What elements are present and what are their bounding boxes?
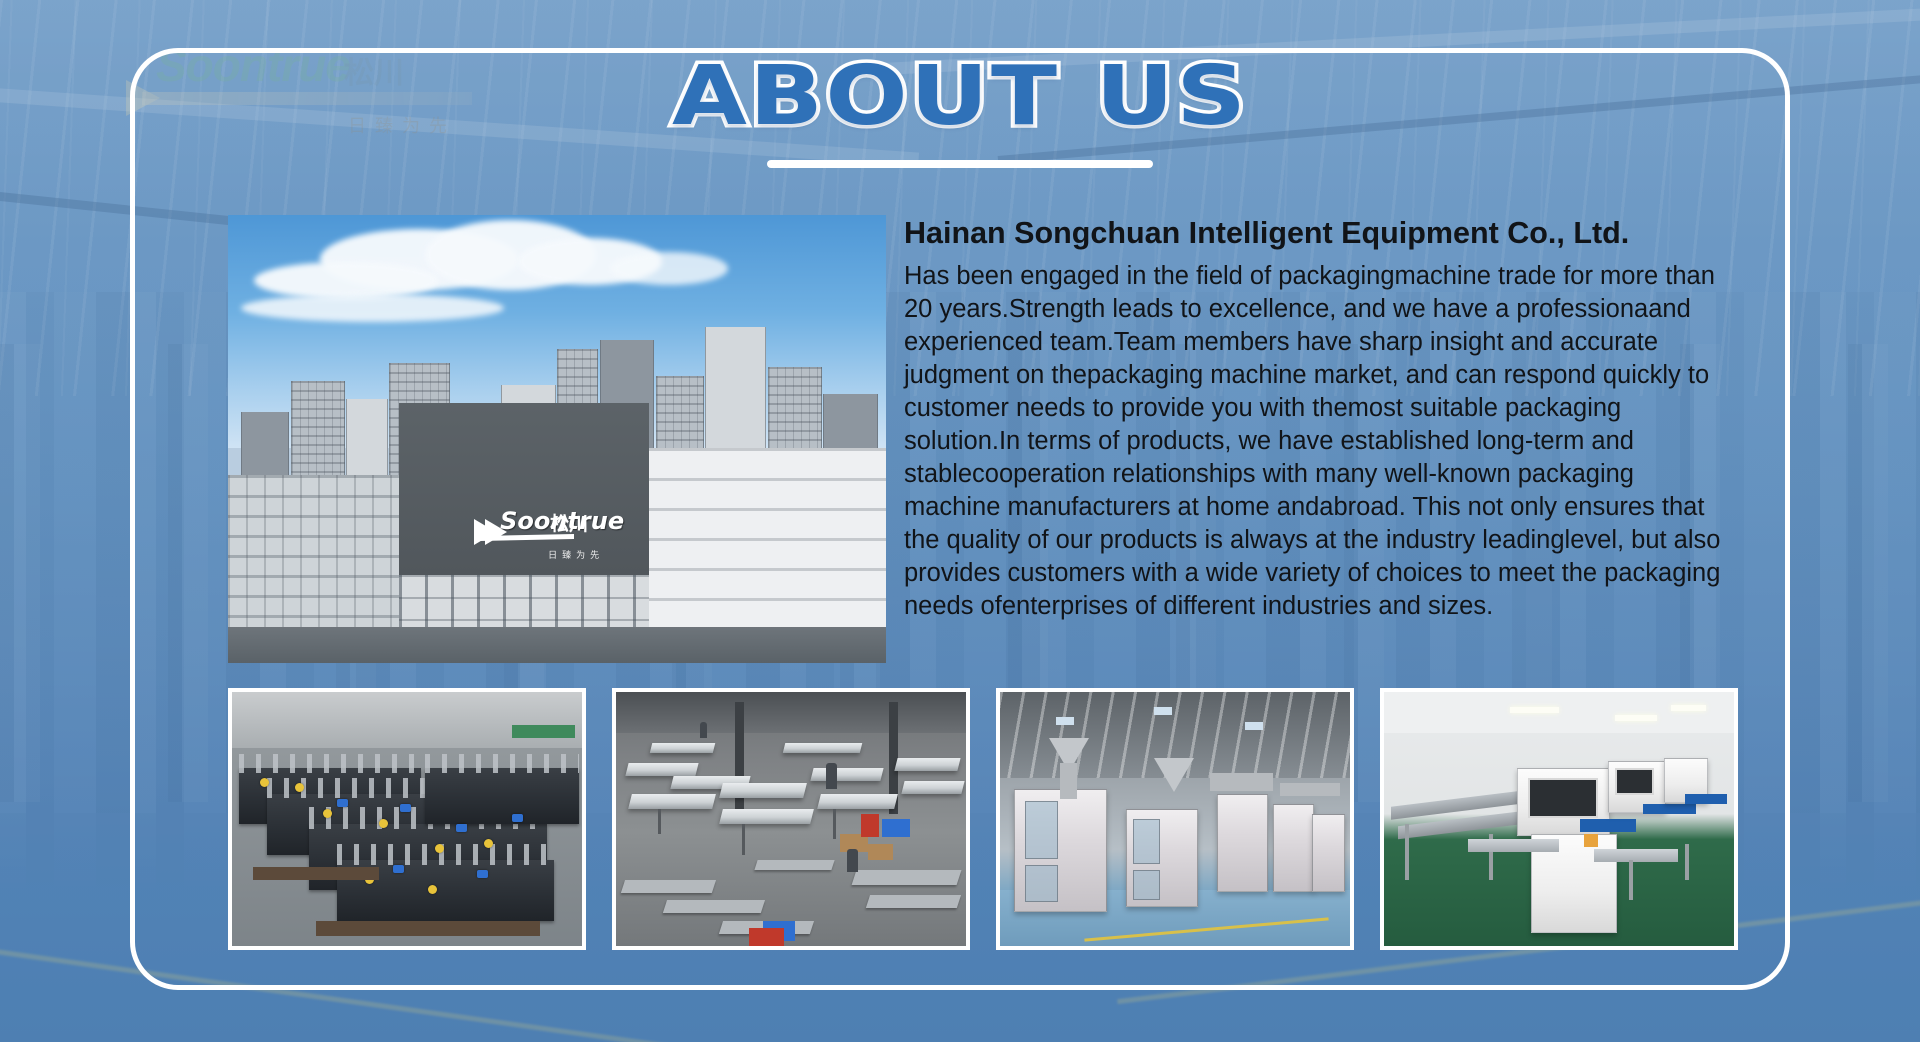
workbench	[894, 758, 960, 771]
about-us-page: Soontrue 松川 日臻为先 ABOUT US	[0, 0, 1920, 1042]
safety-marker	[1584, 834, 1598, 847]
workbench	[901, 781, 964, 794]
machine-rail	[754, 860, 834, 870]
cardboard-box	[868, 844, 893, 859]
conveyor-leg	[1685, 844, 1689, 880]
machine-frame-row	[425, 768, 579, 824]
machine-rail	[621, 880, 716, 893]
signage-bar	[480, 534, 574, 541]
signage-brand-cn: 松川	[550, 509, 588, 536]
workbench	[628, 794, 716, 809]
machine-fitting	[428, 885, 437, 894]
machine-fitting	[400, 804, 411, 812]
ceiling-light	[1615, 715, 1657, 721]
gallery-thumb-flow-wrappers[interactable]	[1380, 688, 1738, 950]
multihead-weigher	[1210, 773, 1273, 791]
bench-leg	[833, 809, 836, 839]
machine-fitting	[477, 870, 488, 878]
cloud-shape	[610, 252, 728, 285]
machine-fitting	[393, 865, 404, 873]
machine-rail	[852, 870, 962, 885]
machine-rail	[866, 895, 961, 908]
blue-conveyor-belt	[1685, 794, 1727, 804]
page-title-block: ABOUT US	[130, 56, 1790, 138]
machine-column	[1060, 763, 1078, 799]
ceiling-light	[1510, 707, 1559, 713]
machine-fitting	[337, 799, 348, 807]
workbench	[810, 768, 883, 781]
skylight	[1056, 717, 1074, 725]
cloud-shape	[254, 262, 438, 299]
skylight	[1154, 707, 1172, 715]
workbench	[783, 743, 863, 753]
workbench	[625, 763, 698, 776]
worker	[826, 763, 837, 788]
gallery-thumb-assembly-workshop[interactable]	[612, 688, 970, 950]
parts-crate	[882, 819, 910, 837]
conveyor-leg	[1405, 824, 1409, 880]
cleanroom-ceiling	[1384, 692, 1734, 733]
parts-crate	[861, 814, 879, 837]
hero-building-photo: Soontrue 松川 日臻为先	[228, 215, 886, 663]
control-panel	[1528, 778, 1599, 818]
building-signage: Soontrue 松川 日臻为先	[474, 507, 574, 551]
about-text-column: Hainan Songchuan Intelligent Equipment C…	[904, 215, 1728, 623]
workbench	[719, 783, 807, 798]
workbench	[719, 809, 814, 824]
company-name: Hainan Songchuan Intelligent Equipment C…	[904, 215, 1728, 252]
blue-conveyor-belt	[1643, 804, 1696, 814]
cloud-shape	[241, 294, 504, 322]
bench-leg	[742, 824, 745, 854]
machine-door-window	[1133, 819, 1160, 864]
workbench	[817, 794, 898, 809]
machine-rows	[232, 692, 582, 946]
machine-door-window	[1025, 801, 1059, 859]
photo-ground	[228, 627, 886, 663]
parts-crate	[749, 928, 784, 946]
worker	[847, 849, 858, 872]
worker	[700, 722, 707, 737]
workbench	[650, 743, 716, 753]
gallery-row	[228, 688, 1738, 950]
vffs-machine	[1312, 814, 1346, 892]
signage-tagline: 日臻为先	[548, 548, 604, 561]
vffs-machine	[1217, 794, 1268, 893]
company-description: Has been engaged in the field of packagi…	[904, 260, 1728, 623]
headquarters-building: Soontrue 松川 日臻为先	[399, 403, 649, 663]
gallery-thumb-machine-frames[interactable]	[228, 688, 586, 950]
title-divider	[767, 160, 1153, 168]
machine-fitting	[379, 819, 388, 828]
pallet	[253, 867, 379, 880]
conveyor-platform	[1280, 783, 1340, 796]
machine-fitting	[456, 824, 467, 832]
page-title: ABOUT US	[672, 56, 1248, 138]
gallery-thumb-vffs-machines[interactable]	[996, 688, 1354, 950]
about-main-row: Soontrue 松川 日臻为先 Hainan Songchuan Intell…	[228, 215, 1728, 663]
steel-belt	[1594, 849, 1678, 862]
machine-rail	[663, 900, 765, 913]
machine-fitting	[323, 809, 332, 818]
support-column	[735, 702, 744, 824]
ceiling-light	[1671, 705, 1706, 711]
machine-door-window	[1133, 870, 1160, 900]
machine-door-window	[1025, 865, 1059, 903]
control-panel	[1615, 768, 1654, 795]
powder-hopper	[1154, 758, 1194, 792]
vffs-machine	[1273, 804, 1314, 892]
machine-fitting	[512, 814, 523, 822]
blue-conveyor-belt	[1580, 819, 1636, 832]
steel-belt	[1468, 839, 1559, 852]
bench-leg	[658, 809, 661, 834]
workshop-roof	[616, 692, 966, 733]
skylight	[1245, 722, 1263, 730]
pallet	[316, 921, 540, 936]
conveyor-leg	[1629, 860, 1633, 901]
